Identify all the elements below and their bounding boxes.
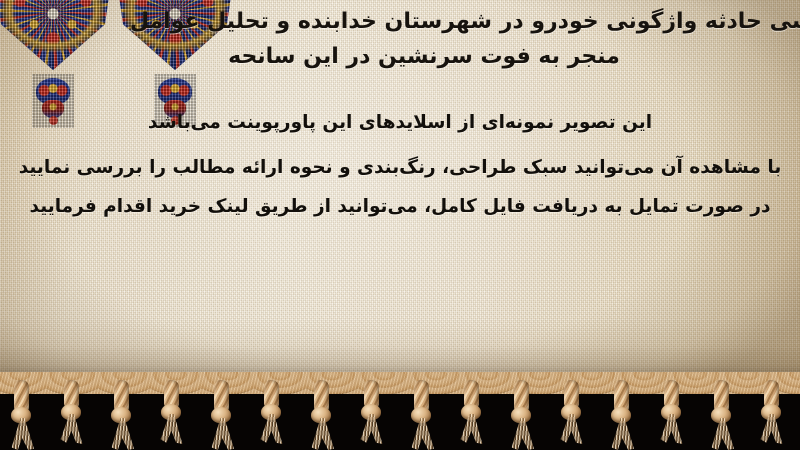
tassel-brush [709,418,735,450]
tassel-brush [9,418,35,450]
tassel-brush [459,414,485,444]
sample-notice-block: این تصویر نمونه‌ای از اسلایدهای این پاور… [0,112,800,217]
carpet-tassel [558,380,584,450]
carpet-tassel [608,380,634,450]
carpet-tassel [8,380,34,450]
carpet-tassel [58,380,84,450]
carpet-tassel [108,380,134,450]
carpet-tassel [158,380,184,450]
sample-notice-line-2: با مشاهده آن می‌توانید سبک طراحی، رنگ‌بن… [0,157,800,178]
carpet-tassel [708,380,734,450]
tassel-brush [309,418,335,450]
carpet-tassel [308,380,334,450]
carpet-tassel [208,380,234,450]
tassel-brush [59,414,85,444]
tassel-brush [609,418,635,450]
tassel-brush [409,418,435,450]
carpet-tassel [758,380,784,450]
tassel-brush [559,414,585,444]
tassel-brush [359,414,385,444]
tassel-brush [109,418,135,450]
carpet-tassel [658,380,684,450]
tassel-brush [259,414,285,444]
slide-title: رسی حادثه واژگونی خودرو در شهرستان خدابن… [52,4,792,74]
carpet-tassel [258,380,284,450]
tassel-brush [209,418,235,450]
carpet-fringe-band [0,372,800,450]
carpet-tassel [508,380,534,450]
carpet-tassel [458,380,484,450]
slide-title-line-1: رسی حادثه واژگونی خودرو در شهرستان خدابن… [52,4,800,39]
tassel-brush [509,418,535,450]
carpet-tassel [358,380,384,450]
carpet-tassel [408,380,434,450]
slide-title-line-2: منجر به فوت سرنشین در این سانحه [52,39,796,74]
slide-canvas: رسی حادثه واژگونی خودرو در شهرستان خدابن… [0,0,800,450]
linen-bottom-shadow [0,318,800,378]
sample-notice-line-1: این تصویر نمونه‌ای از اسلایدهای این پاور… [0,112,800,133]
tassel-brush [759,414,785,444]
sample-notice-line-3: در صورت تمایل به دریافت فایل کامل، می‌تو… [0,196,800,217]
tassel-brush [659,414,685,444]
tassel-brush [159,414,185,444]
